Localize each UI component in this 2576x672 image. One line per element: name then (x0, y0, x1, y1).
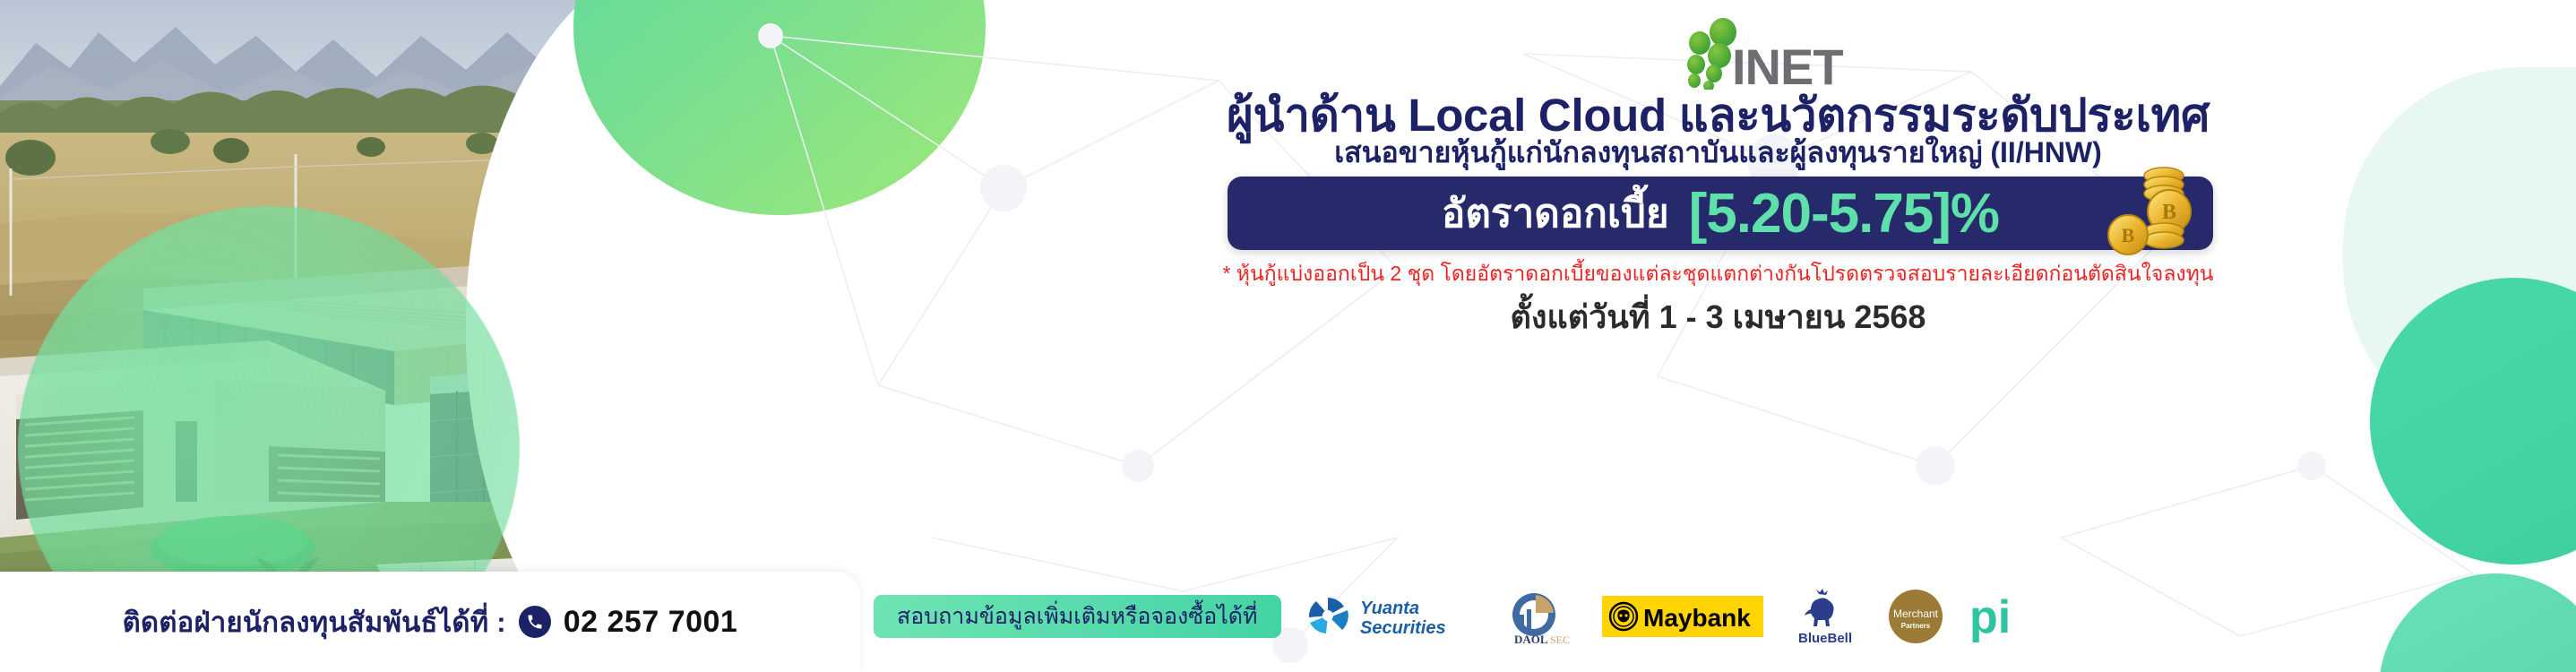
partner-logo-list: Yuanta Securities DAOL SEC (1305, 587, 2030, 646)
contact-phone-number[interactable]: 02 257 7001 (564, 605, 738, 640)
content-panel: INET ผู้นำด้าน Local Cloud และนวัตกรรมระ… (860, 0, 2576, 672)
interest-rate-label: อัตราดอกเบี้ย (1442, 182, 1669, 245)
partner-logo-daolsec[interactable]: DAOL SEC (1489, 587, 1579, 646)
svg-text:SEC: SEC (1550, 633, 1570, 645)
contact-label: ติดต่อฝ่ายนักลงทุนสัมพันธ์ได้ที่ : (123, 599, 506, 644)
svg-text:Merchant: Merchant (1893, 607, 1939, 620)
interest-rate-footnote: * หุ้นกู้แบ่งออกเป็น 2 ชุด โดยอัตราดอกเบ… (860, 258, 2576, 290)
svg-text:B: B (2122, 224, 2135, 246)
svg-text:BlueBell: BlueBell (1798, 631, 1852, 644)
partners-strip: สอบถามข้อมูลเพิ่มเติมหรือจองซื้อได้ที่ Y… (860, 587, 2576, 646)
svg-text:Maybank: Maybank (1643, 604, 1751, 632)
svg-text:Securities: Securities (1360, 618, 1446, 638)
investor-relations-contact-card: ติดต่อฝ่ายนักลงทุนสัมพันธ์ได้ที่ : 02 25… (0, 572, 860, 672)
partner-logo-bluebell[interactable]: BlueBell (1787, 587, 1864, 646)
svg-text:Partners: Partners (1900, 622, 1930, 630)
gold-coins-icon: B B (2101, 161, 2198, 260)
partner-logo-pi[interactable]: pi (1968, 587, 2030, 646)
interest-rate-box: อัตราดอกเบี้ย [5.20-5.75]% (1228, 177, 2213, 250)
interest-rate-value: [5.20-5.75]% (1689, 182, 1999, 246)
svg-text:pi: pi (1969, 591, 2011, 643)
offering-dateline: ตั้งแต่วันที่ 1 - 3 เมษายน 2568 (860, 291, 2576, 342)
cta-label: สอบถามข้อมูลเพิ่มเติมหรือจองซื้อได้ที่ (897, 599, 1258, 634)
partner-logo-yuanta[interactable]: Yuanta Securities (1305, 587, 1466, 646)
svg-text:Yuanta: Yuanta (1360, 599, 1419, 618)
page-subtitle: เสนอขายหุ้นกู้แก่นักลงทุนสถาบันและผู้ลงท… (860, 130, 2576, 176)
phone-icon (519, 606, 551, 638)
partner-logo-merchant-partners[interactable]: Merchant Partners (1887, 587, 1944, 646)
svg-text:B: B (2162, 201, 2176, 224)
svg-text:DAOL: DAOL (1514, 633, 1548, 645)
cta-button[interactable]: สอบถามข้อมูลเพิ่มเติมหรือจองซื้อได้ที่ (874, 595, 1281, 638)
partner-logo-maybank[interactable]: Maybank (1602, 587, 1763, 646)
promo-banner: ติดต่อฝ่ายนักลงทุนสัมพันธ์ได้ที่ : 02 25… (0, 0, 2576, 672)
